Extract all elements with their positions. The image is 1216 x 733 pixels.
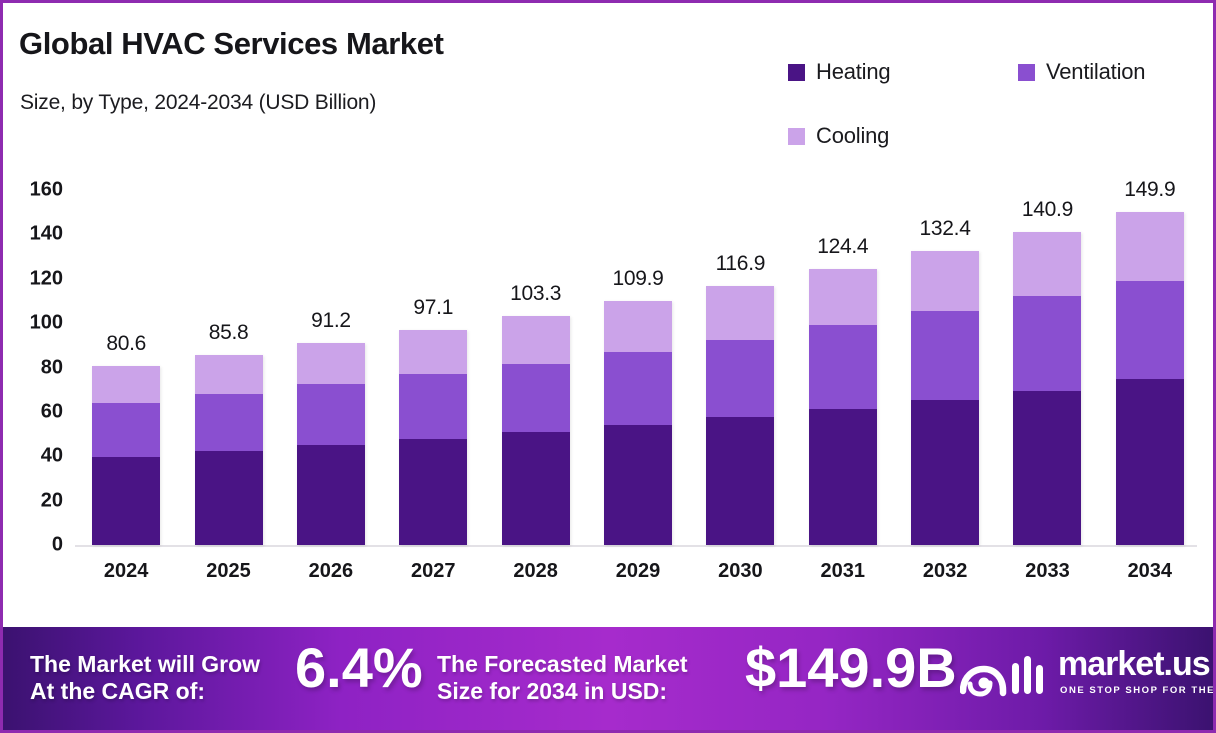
brand-logo[interactable]: market.us ONE STOP SHOP FOR THE REPORTS <box>960 649 1200 711</box>
bar-segment-ventilation <box>92 403 160 457</box>
bar-stack <box>92 366 160 545</box>
bar-segment-ventilation <box>1013 296 1081 391</box>
bar-segment-ventilation <box>1116 281 1184 379</box>
bar-segment-cooling <box>297 343 365 385</box>
chart-subtitle: Size, by Type, 2024-2034 (USD Billion) <box>20 91 376 115</box>
x-axis-tick: 2028 <box>513 560 558 583</box>
y-axis-tick: 120 <box>3 267 63 290</box>
bar-segment-heating <box>399 439 467 545</box>
bar-value-label: 97.1 <box>413 296 453 320</box>
chart-plot-area: 020406080100120140160 80.6202485.8202591… <box>3 163 1213 603</box>
chart-card: Global HVAC Services Market Size, by Typ… <box>0 0 1216 733</box>
legend-item-ventilation[interactable]: Ventilation <box>1018 59 1145 85</box>
bar-stack <box>604 301 672 545</box>
bar-group[interactable]: 140.92033 <box>1013 163 1081 603</box>
bar-stack <box>706 286 774 545</box>
legend-item-heating[interactable]: Heating <box>788 59 890 85</box>
bar-stack <box>1013 232 1081 545</box>
bar-segment-heating <box>195 451 263 545</box>
bar-segment-cooling <box>195 355 263 394</box>
bar-segment-cooling <box>1116 212 1184 281</box>
bar-group[interactable]: 124.42031 <box>809 163 877 603</box>
bar-stack <box>1116 212 1184 545</box>
bar-group[interactable]: 80.62024 <box>92 163 160 603</box>
bar-segment-heating <box>604 425 672 545</box>
bar-value-label: 116.9 <box>716 252 766 276</box>
x-axis-tick: 2026 <box>309 560 354 583</box>
bar-stack <box>502 316 570 545</box>
page-title: Global HVAC Services Market <box>19 26 444 62</box>
bar-group[interactable]: 103.32028 <box>502 163 570 603</box>
bar-group[interactable]: 149.92034 <box>1116 163 1184 603</box>
x-axis-tick: 2024 <box>104 560 149 583</box>
bar-segment-heating <box>1013 391 1081 545</box>
bar-value-label: 91.2 <box>311 309 351 333</box>
bar-segment-cooling <box>502 316 570 364</box>
bar-segment-ventilation <box>399 374 467 438</box>
forecast-size-label: The Forecasted Market Size for 2034 in U… <box>437 651 688 704</box>
bar-value-label: 80.6 <box>106 332 146 356</box>
bar-segment-heating <box>809 409 877 545</box>
legend-label: Cooling <box>816 123 889 149</box>
legend-label: Heating <box>816 59 890 85</box>
x-axis-tick: 2029 <box>616 560 661 583</box>
bar-stack <box>911 251 979 545</box>
x-axis-tick: 2030 <box>718 560 763 583</box>
bar-segment-ventilation <box>297 384 365 445</box>
bar-value-label: 132.4 <box>920 217 971 241</box>
y-axis-tick: 20 <box>3 489 63 512</box>
bar-value-label: 103.3 <box>510 282 561 306</box>
legend-label: Ventilation <box>1046 59 1145 85</box>
bar-segment-ventilation <box>809 325 877 409</box>
bar-segment-cooling <box>1013 232 1081 296</box>
bar-segment-heating <box>92 457 160 545</box>
bar-stack <box>399 330 467 545</box>
bar-segment-cooling <box>809 269 877 325</box>
x-axis-tick: 2033 <box>1025 560 1070 583</box>
x-axis-tick: 2025 <box>206 560 251 583</box>
bar-segment-heating <box>1116 379 1184 545</box>
bar-group[interactable]: 109.92029 <box>604 163 672 603</box>
bar-value-label: 124.4 <box>817 235 868 259</box>
y-axis-tick: 80 <box>3 356 63 379</box>
bar-stack <box>297 343 365 545</box>
bar-segment-heating <box>502 432 570 545</box>
y-axis-tick: 40 <box>3 445 63 468</box>
bar-value-label: 85.8 <box>209 321 249 345</box>
bar-segment-cooling <box>92 366 160 403</box>
x-axis-tick: 2031 <box>820 560 865 583</box>
legend-item-cooling[interactable]: Cooling <box>788 123 889 149</box>
bar-segment-heating <box>297 445 365 545</box>
bar-segment-ventilation <box>604 352 672 424</box>
cagr-label: The Market will Grow At the CAGR of: <box>30 651 260 704</box>
bar-group[interactable]: 97.12027 <box>399 163 467 603</box>
bar-stack <box>809 269 877 545</box>
x-axis-tick: 2027 <box>411 560 456 583</box>
forecast-size-value: $149.9B <box>745 636 957 701</box>
y-axis-tick: 0 <box>3 534 63 557</box>
bar-series-group: 80.6202485.8202591.2202697.12027103.3202… <box>75 163 1201 603</box>
x-axis-tick: 2032 <box>923 560 968 583</box>
bar-stack <box>195 355 263 545</box>
bar-segment-cooling <box>604 301 672 352</box>
bar-segment-heating <box>706 417 774 545</box>
chart-legend: Heating Ventilation Cooling <box>778 51 1198 156</box>
bar-group[interactable]: 132.42032 <box>911 163 979 603</box>
legend-swatch-icon <box>1018 64 1035 81</box>
bar-segment-cooling <box>911 251 979 311</box>
bar-value-label: 149.9 <box>1124 178 1175 202</box>
bar-group[interactable]: 91.22026 <box>297 163 365 603</box>
bar-group[interactable]: 116.92030 <box>706 163 774 603</box>
bar-segment-ventilation <box>502 364 570 432</box>
bar-segment-ventilation <box>911 311 979 400</box>
cagr-value: 6.4% <box>295 636 423 701</box>
y-axis-tick: 140 <box>3 223 63 246</box>
brand-name: market.us <box>1058 645 1210 684</box>
footer-banner: The Market will Grow At the CAGR of: 6.4… <box>3 627 1213 730</box>
bar-segment-heating <box>911 400 979 545</box>
legend-swatch-icon <box>788 64 805 81</box>
bar-segment-cooling <box>399 330 467 375</box>
bar-segment-ventilation <box>706 340 774 418</box>
bar-group[interactable]: 85.82025 <box>195 163 263 603</box>
legend-swatch-icon <box>788 128 805 145</box>
x-axis-tick: 2034 <box>1128 560 1173 583</box>
market-us-logo-icon <box>960 653 1052 702</box>
y-axis-tick: 100 <box>3 312 63 335</box>
bar-value-label: 109.9 <box>612 267 663 291</box>
bar-value-label: 140.9 <box>1022 198 1073 222</box>
bar-segment-ventilation <box>195 394 263 451</box>
y-axis-tick: 60 <box>3 400 63 423</box>
brand-tagline: ONE STOP SHOP FOR THE REPORTS <box>1060 685 1213 696</box>
bar-segment-cooling <box>706 286 774 340</box>
y-axis-tick: 160 <box>3 179 63 202</box>
